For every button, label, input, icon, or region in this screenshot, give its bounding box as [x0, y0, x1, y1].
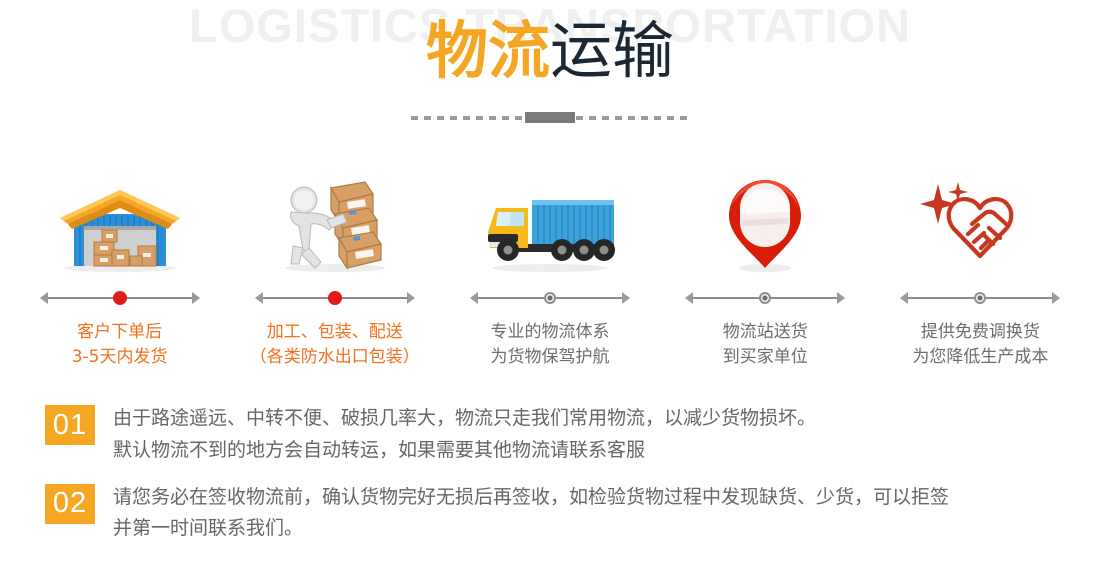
- arrow-left-icon: [685, 292, 693, 304]
- feature-caption-line1: 专业的物流体系: [491, 320, 610, 345]
- feature-caption: 加工、包装、配送 （各类防水出口包装）: [250, 320, 420, 369]
- feature-item: 物流站送货 到买家单位: [658, 178, 873, 369]
- step-connector: [470, 288, 630, 308]
- feature-caption-line2: 为您降低生产成本: [912, 345, 1048, 370]
- arrow-right-icon: [622, 292, 630, 304]
- map-pin-icon: [690, 178, 840, 274]
- feature-caption-line2: 为货物保驾护航: [491, 345, 610, 370]
- note-text: 由于路途遥远、中转不便、破损几率大，物流只走我们常用物流，以减少货物损坏。 默认…: [113, 403, 816, 466]
- feature-item: 客户下单后 3-5天内发货: [12, 178, 227, 369]
- step-dot: [974, 292, 986, 304]
- divider-center-block: [525, 112, 575, 123]
- divider-dash-left: [411, 116, 524, 120]
- arrow-right-icon: [1052, 292, 1060, 304]
- note-line1: 请您务必在签收物流前，确认货物完好无损后再签收，如检验货物过程中发现缺货、少货，…: [113, 482, 949, 513]
- step-connector: [685, 288, 845, 308]
- page-title-rest: 运输: [550, 14, 674, 87]
- step-connector: [40, 288, 200, 308]
- feature-caption: 物流站送货 到买家单位: [723, 320, 808, 369]
- feature-caption-line1: 物流站送货: [723, 320, 808, 345]
- arrow-right-icon: [837, 292, 845, 304]
- handshake-heart-icon: [905, 178, 1055, 274]
- note-number-badge: 02: [45, 484, 95, 524]
- feature-caption-line2: 3-5天内发货: [72, 345, 168, 370]
- warehouse-icon: [45, 178, 195, 274]
- feature-item: 加工、包装、配送 （各类防水出口包装）: [227, 178, 442, 369]
- arrow-left-icon: [40, 292, 48, 304]
- container-truck-icon: [475, 178, 625, 274]
- feature-caption: 专业的物流体系 为货物保驾护航: [491, 320, 610, 369]
- step-dot: [759, 292, 771, 304]
- feature-caption: 提供免费调换货 为您降低生产成本: [912, 320, 1048, 369]
- notes-section: 01 由于路途遥远、中转不便、破损几率大，物流只走我们常用物流，以减少货物损坏。…: [0, 403, 1100, 544]
- note-line1: 由于路途遥远、中转不便、破损几率大，物流只走我们常用物流，以减少货物损坏。: [113, 403, 816, 434]
- step-connector: [255, 288, 415, 308]
- step-dot: [544, 292, 556, 304]
- feature-caption-line1: 提供免费调换货: [912, 320, 1048, 345]
- page-title-highlight: 物流: [426, 14, 550, 87]
- note-number-badge: 01: [45, 405, 95, 445]
- feature-caption-line2: （各类防水出口包装）: [250, 345, 420, 370]
- page-header: LOGISTICS TRANSPORTATION 物流运输: [0, 0, 1100, 150]
- step-dot: [113, 291, 127, 305]
- feature-caption-line2: 到买家单位: [723, 345, 808, 370]
- arrow-left-icon: [900, 292, 908, 304]
- note-item: 02 请您务必在签收物流前，确认货物完好无损后再签收，如检验货物过程中发现缺货、…: [45, 482, 1080, 545]
- arrow-right-icon: [192, 292, 200, 304]
- page-title: 物流运输: [0, 20, 1100, 82]
- note-text: 请您务必在签收物流前，确认货物完好无损后再签收，如检验货物过程中发现缺货、少货，…: [113, 482, 949, 545]
- note-item: 01 由于路途遥远、中转不便、破损几率大，物流只走我们常用物流，以减少货物损坏。…: [45, 403, 1080, 466]
- arrow-right-icon: [407, 292, 415, 304]
- features-row: 客户下单后 3-5天内发货: [0, 178, 1100, 369]
- feature-caption-line1: 加工、包装、配送: [250, 320, 420, 345]
- note-line2: 并第一时间联系我们。: [113, 513, 949, 544]
- arrow-left-icon: [470, 292, 478, 304]
- step-dot: [328, 291, 342, 305]
- feature-item: 提供免费调换货 为您降低生产成本: [873, 178, 1088, 369]
- feature-caption: 客户下单后 3-5天内发货: [72, 320, 168, 369]
- note-line2: 默认物流不到的地方会自动转运，如果需要其他物流请联系客服: [113, 435, 816, 466]
- feature-caption-line1: 客户下单后: [72, 320, 168, 345]
- feature-item: 专业的物流体系 为货物保驾护航: [442, 178, 657, 369]
- worker-pushing-boxes-icon: [260, 178, 410, 274]
- arrow-left-icon: [255, 292, 263, 304]
- title-divider: [0, 112, 1100, 123]
- step-connector: [900, 288, 1060, 308]
- divider-dash-right: [576, 116, 689, 120]
